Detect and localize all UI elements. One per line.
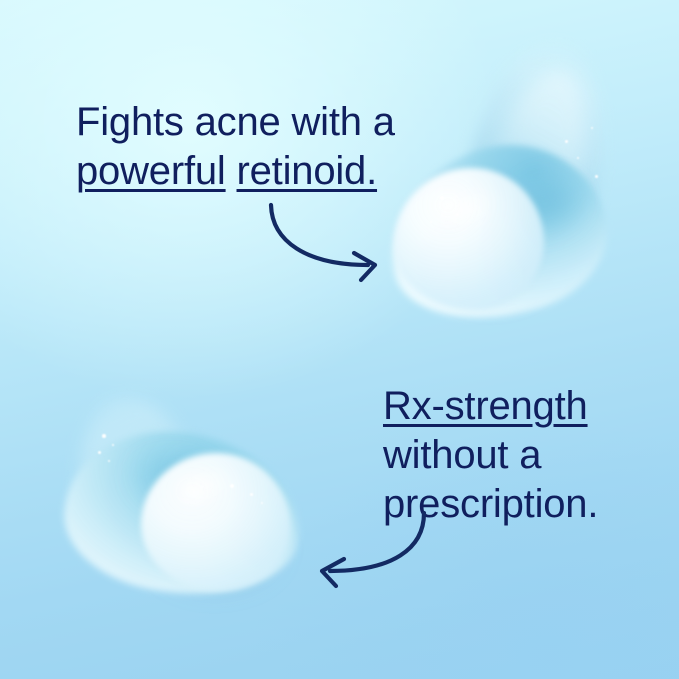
gel-swatch-gloss-highlight <box>158 455 245 519</box>
gel-swatch-blue-core <box>477 142 616 265</box>
product-marketing-image: Fights acne with a powerful retinoid. Rx… <box>0 0 679 679</box>
gel-swatch-gloss-highlight <box>418 172 512 247</box>
headline-secondary-line-2: without a <box>383 431 598 480</box>
headline-secondary: Rx-strength without a prescription. <box>383 382 598 529</box>
gel-sparkle <box>108 460 110 462</box>
gel-sparkle <box>456 213 459 216</box>
gel-swatch-tail <box>458 34 617 255</box>
gel-swatch-upper-right <box>380 40 620 330</box>
headline-primary: Fights acne with a powerful retinoid. <box>76 98 395 196</box>
gel-sparkle <box>565 140 568 143</box>
headline-primary-line-1: Fights acne with a <box>76 98 395 147</box>
gel-swatch-tail-highlight <box>485 62 597 235</box>
headline-primary-underlined-word-1: powerful <box>76 149 226 193</box>
background-highlight-top-left <box>0 0 500 400</box>
gel-swatch-bulb <box>394 168 544 310</box>
gel-swatch-bulb <box>141 453 291 591</box>
gel-sparkle <box>577 157 580 160</box>
headline-secondary-line-1: Rx-strength <box>383 382 598 431</box>
curved-arrow-top <box>250 185 400 285</box>
gel-sparkle <box>102 434 106 438</box>
gel-swatch-shadow <box>115 487 315 612</box>
gel-sparkle <box>595 175 598 178</box>
gel-sparkle <box>98 451 101 454</box>
gel-sparkle <box>250 493 253 496</box>
gel-swatch-body <box>372 126 622 339</box>
gel-sparkle <box>591 127 593 129</box>
gel-swatch-shadow <box>396 190 586 325</box>
gel-sparkle <box>261 502 264 505</box>
gel-swatch-tail <box>67 389 207 554</box>
gel-swatch-body <box>56 419 309 606</box>
gel-sparkle <box>112 444 115 447</box>
headline-secondary-line-3: prescription. <box>383 480 598 529</box>
gel-sparkle <box>430 221 433 224</box>
gel-sparkle <box>230 484 234 488</box>
gel-sparkle <box>440 196 444 200</box>
gel-swatch-lower-left <box>55 395 310 610</box>
headline-primary-line-2: powerful retinoid. <box>76 147 395 196</box>
headline-primary-space <box>226 149 237 193</box>
headline-primary-underlined-word-2: retinoid. <box>237 149 378 193</box>
gel-swatch-blue-core <box>107 434 244 525</box>
